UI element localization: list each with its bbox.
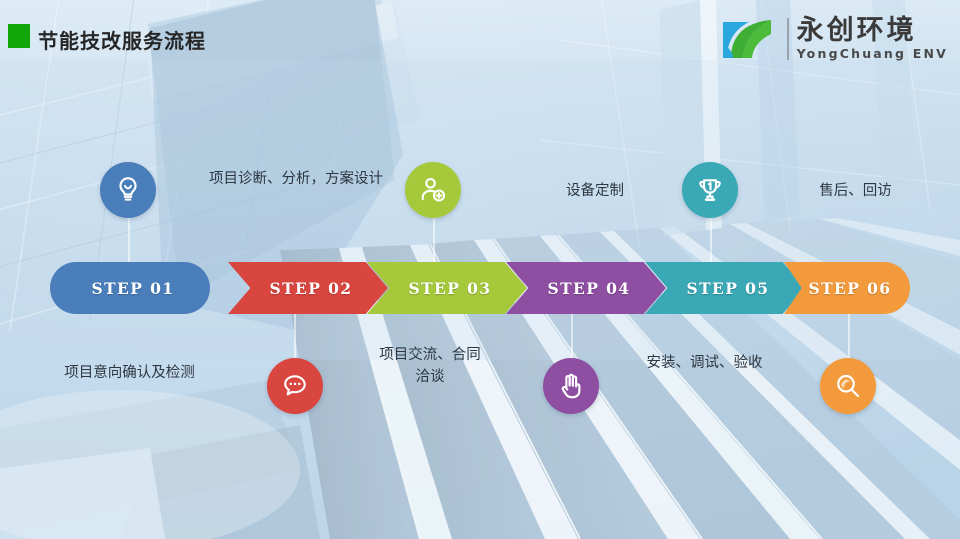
slide-canvas: 节能技改服务流程 永创环境 YongChuang ENV STEP 01 STE… <box>0 0 960 539</box>
flow-step-step-02[interactable]: STEP 02 <box>228 262 388 314</box>
title-accent-square <box>8 24 30 48</box>
flow-step-label: STEP 04 <box>542 279 631 298</box>
page-title: 节能技改服务流程 <box>38 25 206 54</box>
step-icon-trophy[interactable] <box>682 162 738 218</box>
chat-bubble-icon <box>280 371 310 401</box>
connector-stem-2 <box>294 312 296 360</box>
step-icon-search[interactable] <box>820 358 876 414</box>
connector-stem-4 <box>571 312 573 360</box>
connector-stem-1 <box>128 216 130 262</box>
connector-stem-3 <box>433 216 435 262</box>
search-icon <box>833 371 863 401</box>
connector-stem-5 <box>710 216 712 262</box>
lightbulb-icon <box>113 175 143 205</box>
step-icon-add-user[interactable] <box>405 162 461 218</box>
step-caption-step-06: 售后、回访 <box>783 180 928 202</box>
add-user-icon <box>418 175 448 205</box>
flow-step-step-03[interactable]: STEP 03 <box>367 262 527 314</box>
step-caption-step-01: 项目意向确认及检测 <box>22 362 237 384</box>
flow-step-label: STEP 05 <box>681 279 770 298</box>
step-caption-step-05: 安装、调试、验收 <box>612 352 797 374</box>
company-logo: 永创环境 YongChuang ENV <box>719 14 948 64</box>
flow-step-step-01[interactable]: STEP 01 <box>50 262 210 314</box>
step-caption-step-04: 设备定制 <box>520 180 670 202</box>
logo-name-cn: 永创环境 <box>797 17 948 44</box>
hand-icon <box>556 371 586 401</box>
flow-step-label: STEP 06 <box>803 279 892 298</box>
step-icon-hand[interactable] <box>543 358 599 414</box>
step-caption-step-03: 项目交流、合同 洽谈 <box>345 344 515 389</box>
flow-step-step-05[interactable]: STEP 05 <box>645 262 805 314</box>
connector-stem-6 <box>848 312 850 360</box>
trophy-icon <box>695 175 725 205</box>
step-icon-chat-bubble[interactable] <box>267 358 323 414</box>
step-caption-step-02: 项目诊断、分析，方案设计 <box>196 168 396 190</box>
step-icon-lightbulb[interactable] <box>100 162 156 218</box>
logo-swoosh-icon <box>719 14 779 64</box>
flow-step-label: STEP 01 <box>86 279 175 298</box>
flow-step-label: STEP 02 <box>264 279 353 298</box>
flow-step-step-04[interactable]: STEP 04 <box>506 262 666 314</box>
logo-name-en: YongChuang ENV <box>797 48 948 61</box>
flow-step-label: STEP 03 <box>403 279 492 298</box>
logo-divider <box>787 18 789 60</box>
logo-wordmark: 永创环境 YongChuang ENV <box>797 17 948 61</box>
flow-step-step-06[interactable]: STEP 06 <box>784 262 910 314</box>
